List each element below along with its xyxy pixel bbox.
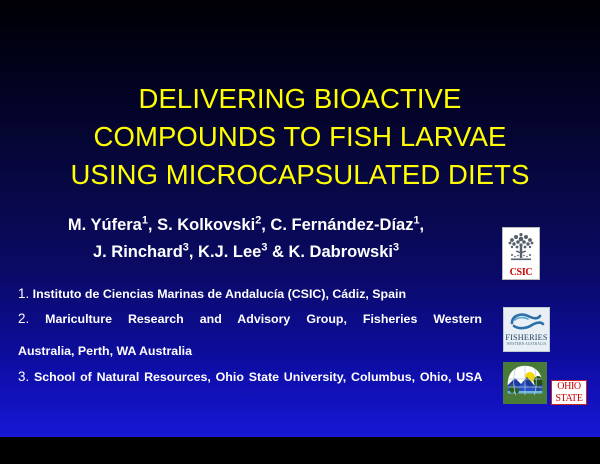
author-affiliation-marker: 3 xyxy=(393,242,399,254)
landscape-scene-icon xyxy=(503,362,547,404)
ohio-state-logo: OHIO STATE xyxy=(551,380,587,405)
affiliation-number: 3. xyxy=(18,369,29,384)
csic-logo: CSIC xyxy=(502,227,540,280)
author-name: , C. Fernández-Díaz xyxy=(261,216,413,234)
affiliation-item-2-continuation: Australia, Perth, WA Australia xyxy=(18,344,482,359)
ohio-state-logo-line-2: STATE xyxy=(552,393,586,405)
affiliation-item-3: 3. School of Natural Resources, Ohio Sta… xyxy=(18,369,482,400)
slide-bottom-band xyxy=(0,437,600,464)
author-line-1: M. Yúfera1, S. Kolkovski2, C. Fernández-… xyxy=(0,212,492,239)
affiliation-text: Mariculture Research and Advisory Group,… xyxy=(45,312,482,326)
tree-icon xyxy=(505,230,537,266)
affiliation-text: Instituto de Ciencias Marinas de Andaluc… xyxy=(33,287,406,301)
affiliation-item-2: 2. Mariculture Research and Advisory Gro… xyxy=(18,311,482,342)
slide-title: DELIVERING BIOACTIVE COMPOUNDS TO FISH L… xyxy=(0,80,600,194)
wave-swirl-icon xyxy=(506,309,547,333)
fisheries-wa-logo: FISHERIES WESTERN AUSTRALIA xyxy=(503,307,550,352)
author-name: , K.J. Lee xyxy=(189,243,261,261)
author-name: , S. Kolkovski xyxy=(148,216,255,234)
affiliation-item-1: 1. Instituto de Ciencias Marinas de Anda… xyxy=(18,286,482,302)
affiliation-number: 2. xyxy=(18,311,29,326)
affiliation-text: School of Natural Resources, Ohio State … xyxy=(34,370,482,384)
title-line-1: DELIVERING BIOACTIVE xyxy=(0,80,600,118)
affiliation-number: 1. xyxy=(18,286,29,301)
author-name: J. Rinchard xyxy=(93,243,183,261)
affiliation-list: 1. Instituto de Ciencias Marinas de Anda… xyxy=(18,286,482,400)
author-name: & K. Dabrowski xyxy=(267,243,393,261)
fisheries-logo-label: FISHERIES xyxy=(504,333,549,342)
presentation-slide: DELIVERING BIOACTIVE COMPOUNDS TO FISH L… xyxy=(0,0,600,464)
fisheries-logo-sublabel: WESTERN AUSTRALIA xyxy=(504,342,549,346)
ohio-state-logo-line-1: OHIO xyxy=(552,381,586,393)
author-line-terminator: , xyxy=(420,216,425,234)
author-name: M. Yúfera xyxy=(68,216,142,234)
csic-logo-label: CSIC xyxy=(503,267,539,278)
title-line-3: USING MICROCAPSULATED DIETS xyxy=(0,156,600,194)
title-line-2: COMPOUNDS TO FISH LARVAE xyxy=(0,118,600,156)
author-line-2: J. Rinchard3, K.J. Lee3 & K. Dabrowski3 xyxy=(0,239,492,266)
author-list: M. Yúfera1, S. Kolkovski2, C. Fernández-… xyxy=(0,212,492,266)
